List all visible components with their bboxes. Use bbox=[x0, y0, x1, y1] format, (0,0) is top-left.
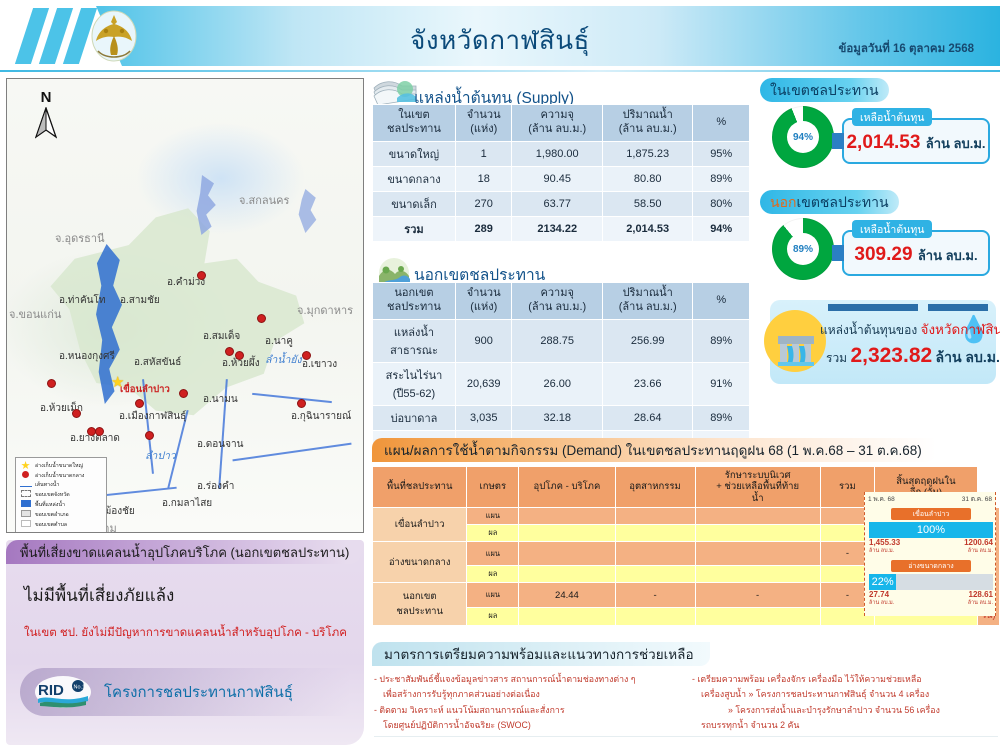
progress-actual-unit: ล้าน ลบ.ม. bbox=[869, 548, 900, 554]
supply-cell: 94% bbox=[693, 216, 750, 241]
supply-cell: 1,875.23 bbox=[602, 141, 692, 166]
supply-cell: 289 bbox=[455, 216, 512, 241]
non-irrigated-cell: สระไนไร่นา (ปี55-62) bbox=[373, 362, 456, 405]
demand-col-header: พื้นที่ชลประทาน bbox=[373, 467, 467, 508]
legend-label: พื้นที่แหล่งน้ำ bbox=[35, 501, 65, 509]
demand-plan-cell bbox=[519, 508, 615, 525]
drought-risk-status: ไม่มีพื้นที่เสี่ยงภัยแล้ง bbox=[24, 582, 174, 609]
map-province-label: จ.มุกดาหาร bbox=[297, 301, 353, 319]
supply-cell: 80.80 bbox=[602, 166, 692, 191]
non-irrigated-cell: 89% bbox=[693, 319, 750, 362]
non-irrigated-cell: 900 bbox=[455, 319, 512, 362]
supply-cell: 80% bbox=[693, 191, 750, 216]
progress-fill: 22% bbox=[869, 574, 896, 590]
supply-col-header: จำนวน(แห่ง) bbox=[455, 105, 512, 142]
legend-blue-box-icon bbox=[19, 500, 32, 509]
supply-cell: 1 bbox=[455, 141, 512, 166]
legend-label: อ่างเก็บน้ำขนาดกลาง bbox=[35, 472, 84, 480]
supply-col-header: ความจุ(ล้าน ลบ.ม.) bbox=[512, 105, 602, 142]
measure-line: รถบรรทุกน้ำ จำนวน 2 คัน bbox=[692, 718, 998, 733]
non-irrigated-cell: 26.00 bbox=[512, 362, 602, 405]
north-arrow-icon: N bbox=[29, 89, 63, 144]
medium-reservoir-marker bbox=[72, 409, 81, 418]
non-irrigated-cell: 28.64 bbox=[602, 405, 692, 430]
non-irrigated-cell: แหล่งน้ำสาธารณะ bbox=[373, 319, 456, 362]
in-zone-percent: 94% bbox=[772, 106, 834, 168]
demand-plan-cell bbox=[615, 508, 695, 525]
legend-line-icon bbox=[19, 481, 32, 489]
non-irrigated-col-header: ความจุ(ล้าน ลบ.ม.) bbox=[512, 283, 602, 320]
table-row: รวม2892134.222,014.5394% bbox=[373, 216, 750, 241]
supply-cell: 58.50 bbox=[602, 191, 692, 216]
demand-col-header: รักษาระบบนิเวศ+ ช่วยเหลือพื้นที่ท้ายน้ำ bbox=[695, 467, 820, 508]
demand-plan-cell bbox=[695, 508, 820, 525]
progress-plan-unit: ล้าน ลบ.ม. bbox=[964, 548, 993, 554]
demand-result-cell bbox=[695, 608, 820, 626]
non-irrigated-cell: 288.75 bbox=[512, 319, 602, 362]
dam-badge-circle bbox=[764, 310, 826, 372]
progress-bar-label: เขื่อนลำปาว bbox=[891, 508, 971, 520]
map-district-label: อ.ดอนจาน bbox=[197, 437, 243, 452]
card-accent-bar bbox=[928, 304, 988, 311]
measure-line: » โครงการส่งน้ำและบำรุงรักษาลำปาว จำนวน … bbox=[692, 703, 998, 718]
medium-reservoir-marker bbox=[135, 399, 144, 408]
svg-text:RID: RID bbox=[38, 682, 64, 699]
progress-foot: 1,455.33ล้าน ลบ.ม.1200.64ล้าน ลบ.ม. bbox=[869, 539, 993, 557]
measure-line: เพื่อสร้างการรับรู้ทุกภาคส่วนอย่างต่อเนื… bbox=[374, 687, 680, 702]
demand-col-header: อุปโภค - บริโภค bbox=[519, 467, 615, 508]
rid-logo-icon: RID No.1 bbox=[34, 675, 92, 709]
demand-result-tag: ผล bbox=[467, 525, 519, 542]
table-row: บ่อบาดาล3,03532.1828.6489% bbox=[373, 405, 750, 430]
out-zone-value-number: 309.29 bbox=[854, 244, 912, 265]
progress-foot: 27.74ล้าน ลบ.ม.128.61ล้าน ลบ.ม. bbox=[869, 591, 993, 609]
demand-result-cell bbox=[519, 525, 615, 542]
measure-line: - ประชาสัมพันธ์ชี้แจงข้อมูลข่าวสาร สถานก… bbox=[374, 672, 680, 687]
table-row: แหล่งน้ำสาธารณะ900288.75256.9989% bbox=[373, 319, 750, 362]
province-map[interactable]: N จ.สกลนครจ.อุดรธานีจ.มุกดาหารจ.ขอนแก่นจ… bbox=[6, 78, 364, 533]
medium-reservoir-marker bbox=[145, 431, 154, 440]
supply-cell: 1,980.00 bbox=[512, 141, 602, 166]
supply-col-header: ในเขตชลประทาน bbox=[373, 105, 456, 142]
demand-area-label: นอกเขตชลประทาน bbox=[373, 583, 467, 625]
out-zone-remaining-value: 309.29 ล้าน ลบ.ม. bbox=[844, 244, 988, 266]
non-irrigated-col-header: จำนวน(แห่ง) bbox=[455, 283, 512, 320]
out-zone-heading: นอกเขตชลประทาน bbox=[760, 190, 899, 214]
map-district-label: อ.ท่าคันโท bbox=[59, 293, 105, 308]
map-legend: ★อ่างเก็บน้ำขนาดใหญ่อ่างเก็บน้ำขนาดกลางเ… bbox=[15, 457, 107, 533]
total-supply-card: 💧 แหล่งน้ำต้นทุนของ จังหวัดกาฬสินธุ์ รวม… bbox=[770, 300, 996, 384]
demand-plan-tag: แผน bbox=[467, 542, 519, 566]
total-value: 2,323.82 bbox=[850, 344, 932, 367]
map-water-label: ลำปาว bbox=[145, 447, 176, 464]
supply-cell: 2,014.53 bbox=[602, 216, 692, 241]
table-row: สระไนไร่นา (ปี55-62)20,63926.0023.6691% bbox=[373, 362, 750, 405]
progress-track: 100% bbox=[869, 522, 993, 538]
large-reservoir-marker: ★ bbox=[111, 375, 124, 390]
measure-line: - เตรียมความพร้อม เครื่องจักร เครื่องมือ… bbox=[692, 672, 998, 687]
legend-white-box-icon bbox=[19, 520, 32, 529]
demand-result-cell bbox=[615, 525, 695, 542]
demand-result-cell bbox=[519, 608, 615, 626]
measure-line: - ติดตาม วิเคราะห์ แนวโน้มสถานการณ์และสั… bbox=[374, 703, 680, 718]
supply-cell: 90.45 bbox=[512, 166, 602, 191]
map-province-label: จ.สกลนคร bbox=[239, 191, 289, 209]
dashboard-page: จังหวัดกาฬสินธุ์ ข้อมูลวันที่ 16 ตุลาคม … bbox=[0, 0, 1000, 750]
table-row: ขนาดกลาง1890.4580.8089% bbox=[373, 166, 750, 191]
progress-start-date: 1 พ.ค. 68 bbox=[868, 494, 895, 504]
legend-dashed-box-icon bbox=[19, 490, 32, 499]
demand-result-cell bbox=[615, 608, 695, 626]
supply-cell: ขนาดกลาง bbox=[373, 166, 456, 191]
total-card-province: จังหวัดกาฬสินธุ์ bbox=[921, 322, 1000, 337]
demand-plan-cell: - bbox=[615, 583, 695, 608]
in-zone-value-unit: ล้าน ลบ.ม. bbox=[926, 136, 986, 151]
non-irrigated-col-header: % bbox=[693, 283, 750, 320]
medium-reservoir-marker bbox=[302, 351, 311, 360]
demand-area-label: อ่างขนาดกลาง bbox=[373, 542, 467, 583]
out-zone-heading-rest: เขตชลประทาน bbox=[796, 192, 888, 214]
map-water-label: ลำน้ำยัง bbox=[265, 351, 302, 368]
legend-item: เส้นทางน้ำ bbox=[19, 481, 103, 489]
map-district-label: อ.กุฉินารายณ์ bbox=[291, 409, 351, 424]
demand-section-title: แผน/ผลการใช้น้ำตามกิจกรรม (Demand) ในเขต… bbox=[372, 438, 936, 462]
in-zone-heading: ในเขตชลประทาน bbox=[760, 78, 889, 102]
measures-divider bbox=[374, 736, 998, 737]
supply-cell: 95% bbox=[693, 141, 750, 166]
supply-cell: ขนาดเล็ก bbox=[373, 191, 456, 216]
supply-cell: 89% bbox=[693, 166, 750, 191]
progress-bar-label: อ่างขนาดกลาง bbox=[891, 560, 971, 572]
legend-star-icon: ★ bbox=[19, 462, 32, 470]
demand-plan-cell: 24.44 bbox=[519, 583, 615, 608]
progress-actual-unit: ล้าน ลบ.ม. bbox=[869, 600, 894, 606]
non-irrigated-table: นอกเขตชลประทานจำนวน(แห่ง)ความจุ(ล้าน ลบ.… bbox=[372, 282, 750, 456]
progress-track: 22% bbox=[869, 574, 993, 590]
supply-cell: 63.77 bbox=[512, 191, 602, 216]
legend-label: ขอบเขตตำบล bbox=[35, 521, 67, 529]
progress-end-date: 31 ต.ค. 68 bbox=[962, 494, 992, 504]
progress-plan-value: 1200.64ล้าน ลบ.ม. bbox=[964, 539, 993, 554]
progress-actual-value: 27.74ล้าน ลบ.ม. bbox=[869, 591, 894, 606]
medium-reservoir-marker bbox=[297, 399, 306, 408]
medium-reservoir-marker bbox=[257, 314, 266, 323]
map-province-label: จ.ขอนแก่น bbox=[9, 305, 61, 323]
out-zone-remaining-tag: เหลือน้ำต้นทุน bbox=[852, 220, 932, 238]
supply-table: ในเขตชลประทานจำนวน(แห่ง)ความจุ(ล้าน ลบ.ม… bbox=[372, 104, 750, 242]
non-irrigated-cell: 32.18 bbox=[512, 405, 602, 430]
demand-plan-cell: - bbox=[695, 583, 820, 608]
data-date-label: ข้อมูลวันที่ 16 ตุลาคม 2568 bbox=[838, 40, 974, 58]
supply-cell: 2134.22 bbox=[512, 216, 602, 241]
demand-area-label: เขื่อนลำปาว bbox=[373, 508, 467, 542]
legend-label: ขอบเขตจังหวัด bbox=[35, 491, 70, 499]
progress-plan-value: 128.61ล้าน ลบ.ม. bbox=[968, 591, 993, 606]
organization-name: โครงการชลประทานกาฬสินธุ์ bbox=[104, 680, 293, 704]
demand-plan-cell bbox=[695, 542, 820, 566]
total-unit: ล้าน ลบ.ม. bbox=[936, 349, 1000, 365]
dam-gate-icon bbox=[776, 332, 816, 368]
non-irrigated-cell: 256.99 bbox=[602, 319, 692, 362]
non-irrigated-table-header: นอกเขตชลประทานจำนวน(แห่ง)ความจุ(ล้าน ลบ.… bbox=[373, 283, 750, 320]
measures-left-column: - ประชาสัมพันธ์ชี้แจงข้อมูลข่าวสาร สถานก… bbox=[374, 672, 680, 734]
non-irrigated-table-body: แหล่งน้ำสาธารณะ900288.75256.9989%สระไนไร… bbox=[373, 319, 750, 455]
measure-line: โดยศูนย์ปฏิบัติการน้ำอัจฉริยะ (SWOC) bbox=[374, 718, 680, 733]
card-accent-bar bbox=[828, 304, 918, 311]
demand-result-cell bbox=[615, 566, 695, 583]
supply-cell: รวม bbox=[373, 216, 456, 241]
map-dam-label: เขื่อนลำปาว bbox=[120, 382, 170, 397]
map-province-label: จ.อุดรธานี bbox=[55, 229, 105, 247]
non-irrigated-cell: 91% bbox=[693, 362, 750, 405]
legend-item: อ่างเก็บน้ำขนาดกลาง bbox=[19, 471, 103, 480]
medium-reservoir-marker bbox=[47, 379, 56, 388]
in-zone-remaining-callout: เหลือน้ำต้นทุน 2,014.53 ล้าน ลบ.ม. bbox=[842, 118, 990, 164]
non-irrigated-cell: บ่อบาดาล bbox=[373, 405, 456, 430]
out-zone-percent: 89% bbox=[772, 218, 834, 280]
demand-plan-cell bbox=[615, 542, 695, 566]
non-irrigated-cell: 23.66 bbox=[602, 362, 692, 405]
supply-cell: 18 bbox=[455, 166, 512, 191]
legend-dot-icon bbox=[19, 471, 32, 480]
medium-reservoir-marker bbox=[235, 351, 244, 360]
map-district-label: อ.สหัสขันธ์ bbox=[134, 355, 181, 370]
progress-bar-block: อ่างขนาดกลาง22%27.74ล้าน ลบ.ม.128.61ล้าน… bbox=[869, 560, 993, 609]
demand-plan-tag: แผน bbox=[467, 508, 519, 525]
demand-result-cell bbox=[695, 525, 820, 542]
legend-label: เส้นทางน้ำ bbox=[35, 481, 59, 489]
demand-col-header: อุตสาหกรรม bbox=[615, 467, 695, 508]
in-zone-donut-chart: 94% bbox=[772, 106, 834, 168]
legend-item: ขอบเขตตำบล bbox=[19, 520, 103, 529]
supply-cell: 270 bbox=[455, 191, 512, 216]
page-header: จังหวัดกาฬสินธุ์ ข้อมูลวันที่ 16 ตุลาคม … bbox=[0, 0, 1000, 72]
out-zone-heading-prefix: นอก bbox=[770, 192, 796, 214]
drought-risk-heading: พื้นที่เสี่ยงขาดแคลนน้ำอุปโภคบริโภค (นอก… bbox=[6, 540, 361, 564]
non-irrigated-cell: 89% bbox=[693, 405, 750, 430]
measures-section-title: มาตรการเตรียมความพร้อมและแนวทางการช่วยเห… bbox=[372, 642, 710, 666]
drought-risk-panel: พื้นที่เสี่ยงขาดแคลนน้ำอุปโภคบริโภค (นอก… bbox=[6, 540, 364, 745]
non-irrigated-col-header: ปริมาณน้ำ(ล้าน ลบ.ม.) bbox=[602, 283, 692, 320]
medium-reservoir-marker bbox=[197, 271, 206, 280]
out-zone-remaining-callout: เหลือน้ำต้นทุน 309.29 ล้าน ลบ.ม. bbox=[842, 230, 990, 276]
demand-result-cell bbox=[519, 566, 615, 583]
medium-reservoir-marker bbox=[95, 427, 104, 436]
measure-line: เครื่องสูบน้ำ » โครงการชลประทานกาฬสินธุ์… bbox=[692, 687, 998, 702]
table-row: ขนาดใหญ่11,980.001,875.2395% bbox=[373, 141, 750, 166]
legend-label: อ่างเก็บน้ำขนาดใหญ่ bbox=[35, 462, 83, 470]
total-label: รวม bbox=[826, 351, 847, 365]
header-divider bbox=[0, 70, 1000, 72]
legend-label: ขอบเขตอำเภอ bbox=[35, 511, 69, 519]
supply-table-header: ในเขตชลประทานจำนวน(แห่ง)ความจุ(ล้าน ลบ.ม… bbox=[373, 105, 750, 142]
non-irrigated-col-header: นอกเขตชลประทาน bbox=[373, 283, 456, 320]
progress-actual-value: 1,455.33ล้าน ลบ.ม. bbox=[869, 539, 900, 554]
drought-risk-note: ในเขต ชป. ยังไม่มีปัญหาการขาดแคลนน้ำสำหร… bbox=[24, 624, 347, 642]
total-card-prefix: แหล่งน้ำต้นทุนของ bbox=[820, 323, 917, 337]
in-zone-value-number: 2,014.53 bbox=[846, 132, 920, 153]
measures-body: - ประชาสัมพันธ์ชี้แจงข้อมูลข่าวสาร สถานก… bbox=[374, 672, 998, 734]
total-card-value-row: รวม 2,323.82 ล้าน ลบ.ม. bbox=[826, 344, 1000, 369]
map-district-label: อ.สมเด็จ bbox=[203, 329, 240, 344]
north-label: N bbox=[29, 89, 63, 106]
progress-bar-block: เขื่อนลำปาว100%1,455.33ล้าน ลบ.ม.1200.64… bbox=[869, 508, 993, 557]
medium-reservoir-marker bbox=[225, 347, 234, 356]
legend-item: ★อ่างเก็บน้ำขนาดใหญ่ bbox=[19, 462, 103, 470]
out-zone-value-unit: ล้าน ลบ.ม. bbox=[918, 248, 978, 263]
non-irrigated-cell: 20,639 bbox=[455, 362, 512, 405]
supply-table-body: ขนาดใหญ่11,980.001,875.2395%ขนาดกลาง1890… bbox=[373, 141, 750, 241]
map-district-label: อ.หนองกุงศรี bbox=[59, 349, 115, 364]
map-district-label: อ.สามชัย bbox=[120, 293, 160, 308]
demand-col-header: เกษตร bbox=[467, 467, 519, 508]
supply-cell: ขนาดใหญ่ bbox=[373, 141, 456, 166]
map-district-label: อ.นาคู bbox=[265, 334, 293, 349]
in-zone-remaining-value: 2,014.53 ล้าน ลบ.ม. bbox=[844, 132, 988, 154]
legend-item: ขอบเขตอำเภอ bbox=[19, 510, 103, 519]
demand-plan-tag: แผน bbox=[467, 583, 519, 608]
supply-col-header: % bbox=[693, 105, 750, 142]
organization-banner: RID No.1 โครงการชลประทานกาฬสินธุ์ bbox=[20, 668, 350, 716]
progress-plan-unit: ล้าน ลบ.ม. bbox=[968, 600, 993, 606]
total-card-heading: แหล่งน้ำต้นทุนของ จังหวัดกาฬสินธุ์ bbox=[820, 318, 1000, 340]
in-zone-remaining-tag: เหลือน้ำต้นทุน bbox=[852, 108, 932, 126]
non-irrigated-cell: 3,035 bbox=[455, 405, 512, 430]
map-district-label: อ.กมลาไสย bbox=[162, 496, 212, 511]
table-row: ขนาดเล็ก27063.7758.5080% bbox=[373, 191, 750, 216]
supply-col-header: ปริมาณน้ำ(ล้าน ลบ.ม.) bbox=[602, 105, 692, 142]
out-zone-donut-chart: 89% bbox=[772, 218, 834, 280]
legend-item: ขอบเขตจังหวัด bbox=[19, 490, 103, 499]
measures-right-column: - เตรียมความพร้อม เครื่องจักร เครื่องมือ… bbox=[692, 672, 998, 734]
map-district-label: อ.เมืองกาฬสินธุ์ bbox=[119, 409, 186, 424]
legend-grey-box-icon bbox=[19, 510, 32, 519]
svg-text:No.1: No.1 bbox=[74, 685, 86, 691]
season-progress-card: 1 พ.ค. 68 31 ต.ค. 68 เขื่อนลำปาว100%1,45… bbox=[864, 492, 996, 616]
medium-reservoir-marker bbox=[179, 389, 188, 398]
legend-item: พื้นที่แหล่งน้ำ bbox=[19, 500, 103, 509]
map-district-label: อ.ร่องคำ bbox=[197, 479, 234, 494]
demand-plan-cell bbox=[519, 542, 615, 566]
demand-result-cell bbox=[695, 566, 820, 583]
progress-fill: 100% bbox=[869, 522, 993, 538]
demand-result-tag: ผล bbox=[467, 608, 519, 626]
demand-result-tag: ผล bbox=[467, 566, 519, 583]
map-district-label: อ.นามน bbox=[203, 392, 238, 407]
